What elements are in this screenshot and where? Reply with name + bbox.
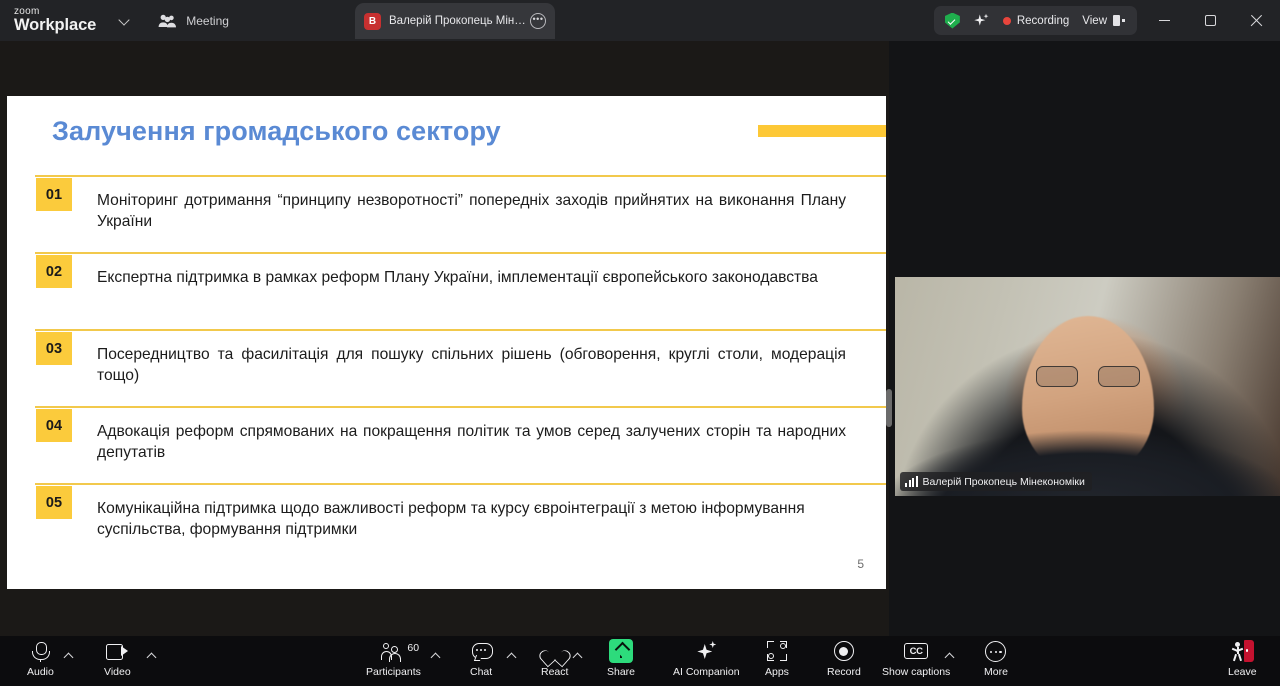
view-selector[interactable]: View — [1082, 15, 1126, 27]
meeting-nav-item[interactable]: Meeting — [158, 14, 229, 28]
row-number-badge: 05 — [36, 486, 72, 519]
camera-icon — [106, 639, 128, 663]
title-accent-bar — [758, 125, 886, 137]
titlebar-status-group: Recording View — [934, 6, 1137, 35]
record-label: Record — [827, 666, 861, 678]
participant-name: Валерій Прокопець Мінекономіки — [923, 476, 1085, 488]
react-options-chevron-up-icon[interactable] — [573, 650, 584, 661]
chevron-down-icon[interactable] — [118, 14, 132, 28]
chat-bubble-icon — [472, 639, 491, 663]
layout-view-icon — [1113, 15, 1126, 26]
glasses — [1036, 366, 1140, 386]
audio-label: Audio — [27, 666, 54, 678]
leave-door-icon — [1230, 639, 1254, 663]
apps-grid-icon — [767, 639, 787, 663]
row-divider — [35, 175, 886, 177]
minimize-icon — [1159, 20, 1170, 21]
record-circle-icon — [834, 639, 854, 663]
apps-button[interactable]: Apps — [765, 639, 789, 683]
slide-item-row: 01 Моніторинг дотримання “принципу незво… — [7, 175, 886, 252]
tab-avatar-badge: В — [364, 13, 381, 30]
chat-options-chevron-up-icon[interactable] — [507, 650, 518, 661]
row-text: Комунікаційна підтримка щодо важливості … — [97, 499, 846, 540]
slide-item-row: 05 Комунікаційна підтримка щодо важливос… — [7, 483, 886, 560]
more-button[interactable]: More — [984, 639, 1008, 683]
pane-resize-handle[interactable] — [886, 389, 892, 427]
row-text: Експертна підтримка в рамках реформ План… — [97, 268, 846, 289]
ellipsis-circle-icon — [985, 639, 1006, 663]
row-divider — [35, 483, 886, 485]
presentation-slide: Залучення громадського сектору 01 Моніто… — [7, 96, 886, 589]
more-label: More — [984, 666, 1008, 678]
minimize-button[interactable] — [1142, 0, 1187, 41]
meeting-label: Meeting — [186, 14, 229, 28]
zoom-meeting-window: zoom Workplace Meeting В Валерій Прокопе… — [0, 0, 1280, 686]
share-screen-icon — [609, 639, 633, 663]
row-divider — [35, 252, 886, 254]
react-button[interactable]: React — [541, 639, 568, 683]
recording-indicator[interactable]: Recording — [1003, 15, 1069, 27]
leave-label: Leave — [1228, 666, 1257, 678]
meeting-toolbar: Audio Video 60 Participants Chat React — [0, 636, 1280, 686]
participants-label: Participants — [366, 666, 421, 678]
participants-count: 60 — [407, 642, 419, 654]
show-captions-button[interactable]: CC Show captions — [882, 639, 950, 683]
participants-options-chevron-up-icon[interactable] — [431, 650, 442, 661]
microphone-icon — [36, 639, 45, 663]
ellipsis-circle-icon[interactable]: ••• — [530, 13, 546, 29]
view-label: View — [1082, 15, 1107, 27]
captions-options-chevron-up-icon[interactable] — [945, 650, 956, 661]
people-group-icon — [158, 14, 177, 28]
audio-button[interactable]: Audio — [27, 639, 54, 683]
green-shield-check-icon[interactable] — [945, 13, 960, 29]
maximize-button[interactable] — [1188, 0, 1233, 41]
row-number-badge: 03 — [36, 332, 72, 365]
row-text: Моніторинг дотримання “принципу незворот… — [97, 191, 846, 232]
tab-title: Валерій Прокопець Мінеконом — [389, 15, 530, 27]
close-icon — [1250, 14, 1263, 27]
zoom-workplace-logo: zoom Workplace — [14, 7, 96, 34]
chat-button[interactable]: Chat — [470, 639, 492, 683]
video-button[interactable]: Video — [104, 639, 131, 683]
share-label: Share — [607, 666, 635, 678]
closed-caption-icon: CC — [904, 639, 928, 663]
slide-page-number: 5 — [857, 557, 864, 571]
row-number-badge: 01 — [36, 178, 72, 211]
recording-dot-icon — [1003, 17, 1011, 25]
ai-companion-button[interactable]: AI Companion — [673, 639, 740, 683]
heart-icon — [545, 639, 565, 663]
row-divider — [35, 329, 886, 331]
participant-video-tile[interactable]: Валерій Прокопець Мінекономіки — [895, 277, 1280, 496]
ai-sparkle-icon[interactable] — [973, 12, 990, 29]
participants-icon: 60 — [382, 639, 404, 663]
share-screen-button[interactable]: Share — [607, 639, 635, 683]
close-button[interactable] — [1234, 0, 1279, 41]
slide-item-row: 02 Експертна підтримка в рамках реформ П… — [7, 252, 886, 329]
react-label: React — [541, 666, 568, 678]
slide-title: Залучення громадського сектору — [52, 116, 501, 147]
row-text: Посередництво та фасилітація для пошуку … — [97, 345, 846, 386]
row-text: Адвокація реформ спрямованих на покращен… — [97, 422, 846, 463]
recording-label: Recording — [1017, 15, 1069, 27]
apps-label: Apps — [765, 666, 789, 678]
record-button[interactable]: Record — [827, 639, 861, 683]
ai-sparkle-icon — [696, 639, 716, 663]
participant-name-badge: Валерій Прокопець Мінекономіки — [900, 472, 1092, 491]
audio-options-chevron-up-icon[interactable] — [64, 650, 75, 661]
chat-label: Chat — [470, 666, 492, 678]
brand-large: Workplace — [14, 17, 96, 34]
row-number-badge: 04 — [36, 409, 72, 442]
shared-screen-pane: Залучення громадського сектору 01 Моніто… — [0, 41, 889, 636]
video-options-chevron-up-icon[interactable] — [147, 650, 158, 661]
slide-item-row: 03 Посередництво та фасилітація для пошу… — [7, 329, 886, 406]
captions-label: Show captions — [882, 666, 950, 678]
signal-bars-icon — [905, 477, 918, 487]
leave-button[interactable]: Leave — [1228, 639, 1257, 683]
participants-button[interactable]: 60 Participants — [366, 639, 421, 683]
ai-companion-label: AI Companion — [673, 666, 740, 678]
row-divider — [35, 406, 886, 408]
restore-window-icon — [1205, 15, 1216, 26]
video-label: Video — [104, 666, 131, 678]
meeting-stage: Залучення громадського сектору 01 Моніто… — [0, 41, 1280, 636]
meeting-tab[interactable]: В Валерій Прокопець Мінеконом ••• — [355, 3, 555, 39]
title-bar: zoom Workplace Meeting В Валерій Прокопе… — [0, 0, 1280, 41]
slide-item-list: 01 Моніторинг дотримання “принципу незво… — [7, 175, 886, 560]
slide-item-row: 04 Адвокація реформ спрямованих на покра… — [7, 406, 886, 483]
row-number-badge: 02 — [36, 255, 72, 288]
